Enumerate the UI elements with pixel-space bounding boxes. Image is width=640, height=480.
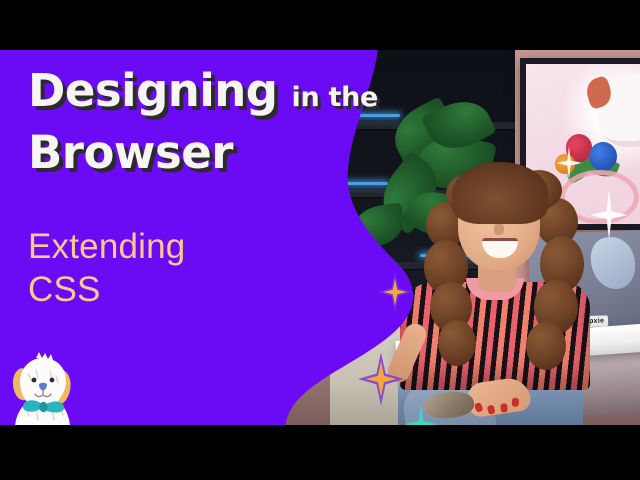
title-word-browser: Browser	[28, 130, 388, 176]
subtitle-overlay: Extending CSS	[28, 226, 185, 311]
letterbox-bar-bottom	[0, 425, 640, 480]
dog-mascot-logo	[6, 350, 80, 425]
hair-crown	[452, 162, 548, 224]
video-content-band: JS Erpxie CEN	[0, 50, 640, 425]
letterbox-bar-top	[0, 0, 640, 50]
nose	[494, 223, 504, 235]
title-word-designing: Designing	[28, 68, 278, 114]
subtitle-line-extending: Extending	[28, 226, 185, 269]
video-player-frame: JS Erpxie CEN	[0, 0, 640, 480]
title-overlay: Designing in the Browser	[28, 68, 388, 176]
title-word-in-the: in the	[292, 82, 379, 113]
title-line-1: Designing in the	[28, 68, 388, 114]
subtitle-line-css: CSS	[28, 269, 185, 312]
smile	[482, 238, 518, 258]
